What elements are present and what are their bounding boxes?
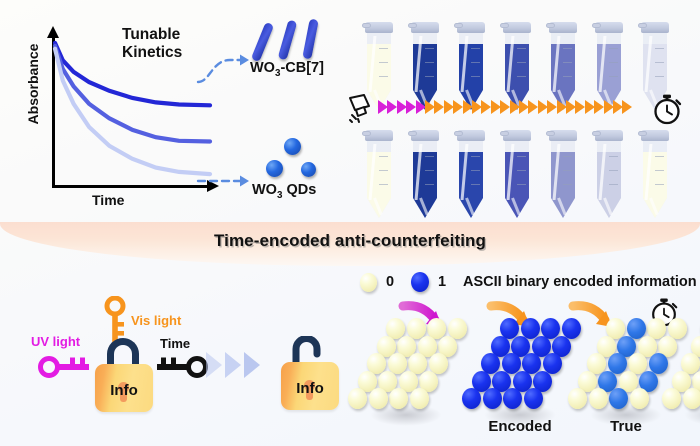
test-tube [642, 130, 668, 218]
tube-cap-lip [500, 131, 509, 136]
tube-graduation [517, 170, 526, 171]
test-tube [504, 130, 530, 218]
banner-title: Time-encoded anti-counterfeiting [0, 231, 700, 251]
vis-light-label: Vis light [131, 313, 181, 328]
tube-cap-lip [408, 23, 417, 28]
dot-zero [589, 388, 608, 409]
tube-cap-lip [546, 23, 555, 28]
x-axis-label: Time [92, 192, 124, 208]
test-tube [550, 130, 576, 218]
dot-zero [369, 388, 388, 409]
tube-graduation [563, 62, 572, 63]
dot-one [503, 388, 522, 409]
locked-info-label: Info [95, 382, 153, 399]
nanorod-icon [302, 19, 318, 60]
tube-graduation [609, 48, 618, 49]
tube-cap-lip [592, 23, 601, 28]
connector-arrow-qds [196, 170, 258, 192]
tube-graduation [517, 76, 526, 77]
tube-cap-lip [362, 23, 371, 28]
uv-light-key-icon [37, 354, 91, 380]
tube-graduation [563, 76, 572, 77]
tube-graduation [425, 76, 434, 77]
legend-one-label: 1 [438, 274, 446, 290]
tube-graduation [425, 184, 434, 185]
tube-graduation [655, 156, 664, 157]
tube-graduation [517, 48, 526, 49]
time-key-icon [155, 354, 209, 380]
test-tube [458, 130, 484, 218]
time-label: Time [160, 336, 190, 351]
tube-graduation [563, 184, 572, 185]
decay-curve-2 [55, 49, 210, 174]
quantum-dot-icon [284, 138, 301, 155]
legend-description: ASCII binary encoded information [463, 274, 697, 290]
transition-chevrons [206, 352, 268, 382]
tube-cap-lip [592, 131, 601, 136]
tube-graduation [379, 156, 388, 157]
tube-graduation [425, 156, 434, 157]
matrix-label-false: False [670, 418, 700, 435]
tube-row-bottom [366, 130, 686, 220]
tube-graduation [609, 170, 618, 171]
dot-zero [630, 388, 649, 409]
tube-graduation [655, 62, 664, 63]
tube-graduation [655, 170, 664, 171]
nanorod-icon [251, 22, 274, 62]
dot-zero [662, 388, 681, 409]
tube-graduation [471, 184, 480, 185]
stopwatch-icon [650, 92, 684, 126]
flow-chevron-icon [206, 352, 222, 378]
tube-graduation [425, 48, 434, 49]
test-tube [596, 130, 622, 218]
flow-chevron-icon [244, 352, 260, 378]
uv-lamp-icon [348, 94, 374, 124]
locked-padlock: Info [88, 338, 158, 412]
nanorod-cluster [250, 18, 345, 62]
legend-zero-dot [360, 273, 377, 292]
tube-graduation [655, 48, 664, 49]
unlocked-info-label: Info [281, 380, 339, 397]
tube-graduation [609, 184, 618, 185]
tube-graduation [425, 170, 434, 171]
tube-graduation [471, 170, 480, 171]
tube-cap-lip [408, 131, 417, 136]
matrix-label-encoded: Encoded [470, 418, 570, 435]
dot-matrix-encoded: Encoded [474, 318, 574, 446]
dot-matrix-true: True [580, 318, 680, 446]
tube-graduation [563, 170, 572, 171]
tube-graduation [517, 184, 526, 185]
padlock-shackle-icon [107, 338, 139, 367]
dot-zero [410, 388, 429, 409]
dot-matrix-blank [360, 318, 460, 446]
test-tube [412, 130, 438, 218]
tube-graduation [563, 48, 572, 49]
plot-title-line1: Tunable [122, 26, 182, 44]
matrix-label-true: True [576, 418, 676, 435]
tube-cap-lip [546, 131, 555, 136]
tube-cap-lip [638, 131, 647, 136]
dot-one [483, 388, 502, 409]
nanorod-label: WO3-CB[7] [250, 60, 324, 79]
test-tube [366, 130, 392, 218]
tube-graduation [517, 62, 526, 63]
dot-one [609, 388, 628, 409]
tube-graduation [517, 156, 526, 157]
nanorod-icon [278, 20, 298, 61]
quantum-dot-label: WO3 QDs [252, 182, 316, 201]
time-arrow-strip [378, 96, 630, 120]
tube-graduation [379, 62, 388, 63]
tube-graduation [609, 62, 618, 63]
tube-cap-lip [454, 23, 463, 28]
dot-zero [568, 388, 587, 409]
quantum-dot-cluster [258, 138, 338, 184]
plot-title: Tunable Kinetics [122, 26, 182, 62]
time-chevron-icon [622, 100, 632, 114]
plot-title-line2: Kinetics [122, 44, 182, 62]
tube-graduation [379, 48, 388, 49]
tube-graduation [379, 76, 388, 77]
dot-zero [348, 388, 367, 409]
uv-light-label: UV light [31, 334, 80, 349]
tube-graduation [379, 170, 388, 171]
tube-graduation [471, 48, 480, 49]
tube-graduation [655, 184, 664, 185]
dot-zero [683, 388, 700, 409]
tube-graduation [471, 156, 480, 157]
tube-graduation [471, 62, 480, 63]
tube-graduation [609, 76, 618, 77]
legend-one-dot [411, 272, 429, 292]
flow-chevron-icon [225, 352, 241, 378]
tube-cap-lip [454, 131, 463, 136]
connector-arrow-nanorods [196, 52, 258, 88]
tube-graduation [471, 76, 480, 77]
tube-cap-lip [362, 131, 371, 136]
dot-one [524, 388, 543, 409]
tube-graduation [655, 76, 664, 77]
y-axis-label: Absorbance [25, 29, 41, 139]
quantum-dot-icon [266, 160, 283, 177]
tube-graduation [609, 156, 618, 157]
legend-zero-label: 0 [386, 274, 394, 290]
unlocked-padlock: Info [274, 336, 350, 412]
graphical-abstract: Absorbance Time Tunable Kinetics WO3-CB[… [0, 0, 700, 446]
tube-graduation [425, 62, 434, 63]
dot-matrix-group: EncodedTrueFalse [352, 318, 700, 446]
dot-zero [389, 388, 408, 409]
tube-graduation [379, 184, 388, 185]
tube-cap-lip [500, 23, 509, 28]
quantum-dot-icon [301, 162, 316, 177]
dot-one [462, 388, 481, 409]
tube-graduation [563, 156, 572, 157]
tube-cap-lip [638, 23, 647, 28]
